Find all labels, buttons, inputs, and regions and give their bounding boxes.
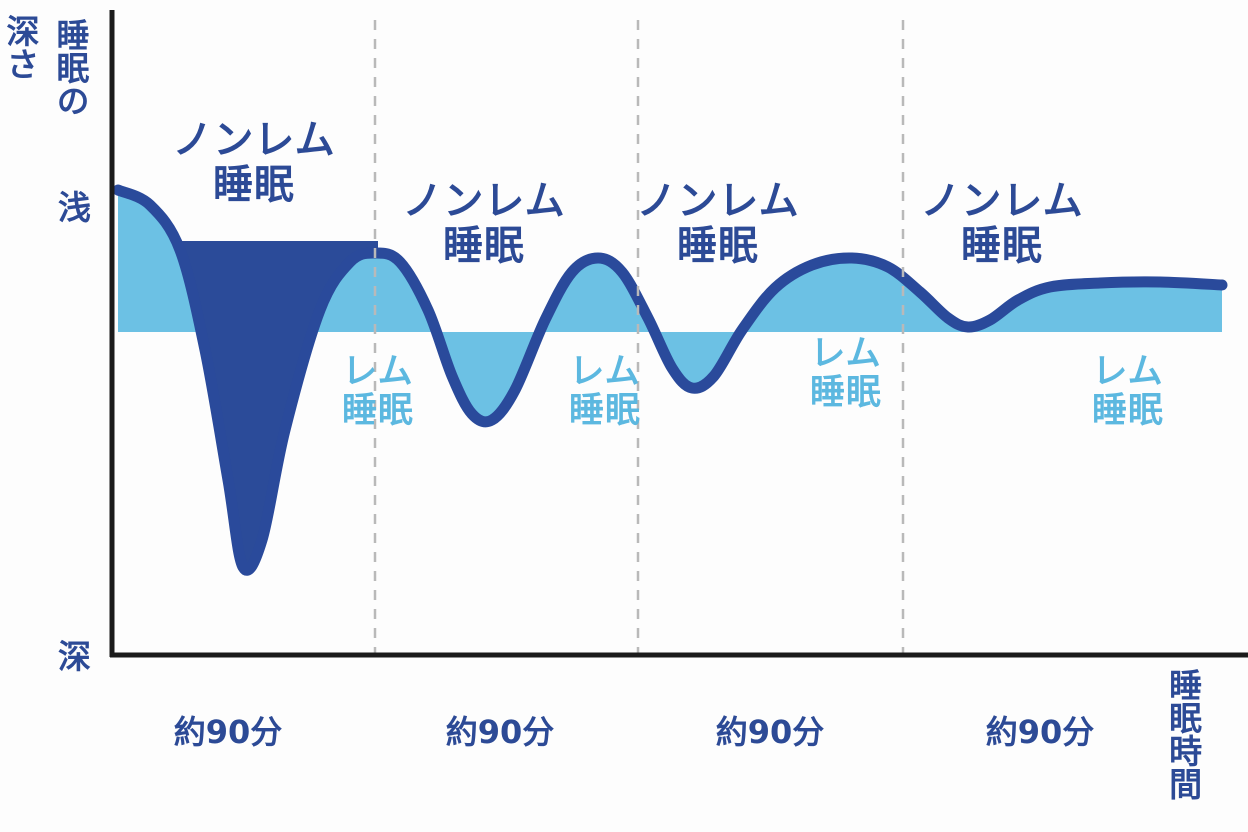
rem-label-3-line2: 睡眠 [810,374,882,413]
y-axis-title: 睡眠の [54,18,87,117]
cycle-duration-label-1: 約90分 [174,715,283,751]
y-tick-shallow: 浅 [58,181,91,229]
rem-label-4: レム睡眠 [1092,353,1164,431]
rem-label-1-line2: 睡眠 [342,392,414,431]
rem-label-4-line1: レム [1092,353,1164,392]
sleep-cycle-chart: 深さ 睡眠の 浅 深 睡眠時間 ノンレム睡眠ノンレム睡眠ノンレム睡眠ノンレム睡眠… [0,0,1248,832]
cycle-duration-label-4: 約90分 [986,715,1095,751]
nonrem-label-4-line2: 睡眠 [920,224,1083,269]
nonrem-label-3-line1: ノンレム [636,179,799,224]
rem-label-4-line2: 睡眠 [1092,392,1164,431]
nonrem-label-3: ノンレム睡眠 [636,179,799,269]
rem-label-3: レム睡眠 [810,335,882,413]
y-axis-corner-label: 深さ [4,14,37,80]
nonrem-label-2: ノンレム睡眠 [402,179,565,269]
rem-label-1-line1: レム [342,353,414,392]
nonrem-label-1: ノンレム睡眠 [172,118,335,208]
nonrem-label-1-line2: 睡眠 [172,163,335,208]
x-axis-title: 睡眠時間 [1165,668,1200,800]
rem-label-3-line1: レム [810,335,882,374]
y-tick-deep: 深 [58,630,91,678]
nonrem-label-4-line1: ノンレム [920,179,1083,224]
cycle-duration-label-3: 約90分 [716,715,825,751]
nonrem-label-2-line2: 睡眠 [402,224,565,269]
rem-label-2-line2: 睡眠 [569,392,641,431]
rem-label-2: レム睡眠 [569,353,641,431]
rem-label-2-line1: レム [569,353,641,392]
nonrem-label-4: ノンレム睡眠 [920,179,1083,269]
nonrem-label-3-line2: 睡眠 [636,224,799,269]
cycle-duration-label-2: 約90分 [446,715,555,751]
rem-label-1: レム睡眠 [342,353,414,431]
nonrem-label-1-line1: ノンレム [172,118,335,163]
nonrem-label-2-line1: ノンレム [402,179,565,224]
